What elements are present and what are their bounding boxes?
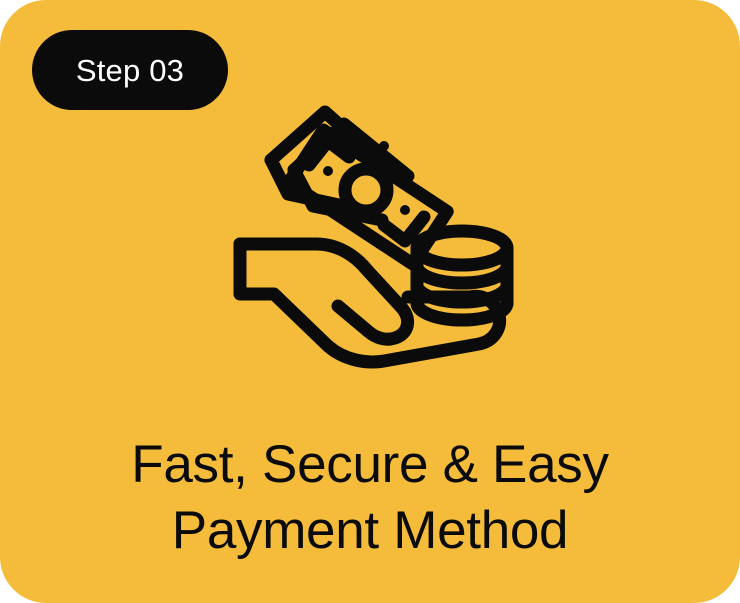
- step-badge: Step 03: [32, 30, 228, 110]
- card-heading: Fast, Secure & Easy Payment Method: [0, 432, 740, 564]
- card-heading-line-1: Fast, Secure & Easy: [24, 432, 716, 498]
- step-badge-label: Step 03: [76, 55, 184, 86]
- hand-holding-money-icon: [232, 98, 524, 372]
- card-heading-line-2: Payment Method: [24, 498, 716, 564]
- step-card: Step 03: [0, 0, 740, 603]
